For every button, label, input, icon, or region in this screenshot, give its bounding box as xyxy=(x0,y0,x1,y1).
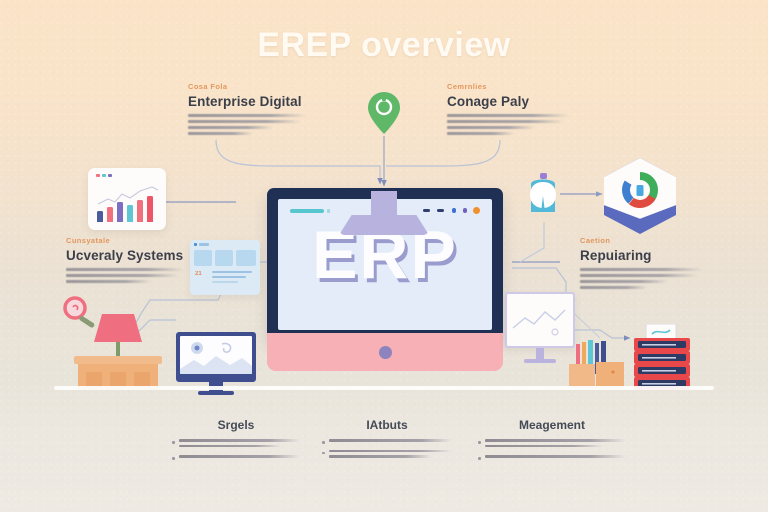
floor-line xyxy=(54,386,714,390)
list-item xyxy=(322,439,452,445)
dashboard-card: 21 xyxy=(190,240,260,295)
callout-eyebrow: Caetion xyxy=(580,236,702,245)
infographic-canvas: EREP overview ERP Cosa Fola Enterprise D… xyxy=(0,0,768,512)
callout-body xyxy=(580,268,702,289)
card-bars xyxy=(97,196,153,222)
titlebar-dot-3 xyxy=(452,208,457,213)
callout-heading: Conage Paly xyxy=(447,94,569,109)
bottom-section-srgels: Srgels xyxy=(172,418,300,466)
mini-monitor-content xyxy=(180,336,252,374)
callout-eyebrow: Cemrnlies xyxy=(447,82,569,91)
list-item xyxy=(478,439,626,450)
bullet-dot xyxy=(172,441,175,444)
list-item xyxy=(172,439,300,450)
map-pin-glyph xyxy=(363,88,405,138)
list-item xyxy=(478,455,626,461)
dashcard-metric: 21 xyxy=(195,271,202,277)
section-heading: Meagement xyxy=(478,418,626,432)
dashcard-tiles xyxy=(194,250,256,266)
card-header-dots xyxy=(96,174,112,177)
list-item xyxy=(172,455,300,461)
monitor-stand-base xyxy=(339,215,429,235)
titlebar-dot-1 xyxy=(423,209,430,212)
bar-chart-card xyxy=(88,168,166,230)
callout-body xyxy=(66,268,184,283)
list-item xyxy=(322,450,452,461)
mini-monitor xyxy=(176,332,256,382)
callout-enterprise-digital: Cosa Fola Enterprise Digital xyxy=(188,82,306,138)
screen-titlebar-pill xyxy=(290,209,324,213)
book-holder xyxy=(568,330,624,386)
page-title: EREP overview xyxy=(0,26,768,65)
callout-repuiaring: Caetion Repuiaring xyxy=(580,236,702,292)
dashcard-header xyxy=(194,243,209,246)
monitor-power-knob xyxy=(379,346,392,359)
bullet-dot xyxy=(322,452,325,455)
white-monitor-content xyxy=(507,294,573,346)
white-monitor-card xyxy=(505,292,575,348)
bullet-dot xyxy=(478,441,481,444)
mini-monitor-base xyxy=(198,391,234,395)
bottom-section-management: Meagement xyxy=(478,418,626,466)
bullet-dot xyxy=(322,441,325,444)
callout-conage-paly: Cemrnlies Conage Paly xyxy=(447,82,569,138)
dashcard-rows xyxy=(212,271,252,283)
shield-bulb-icon xyxy=(522,172,564,222)
lamp-building-glyph xyxy=(72,300,164,392)
callout-heading: Repuiaring xyxy=(580,248,702,263)
titlebar-dot-4 xyxy=(463,208,468,213)
callout-body xyxy=(447,114,569,135)
section-heading: Srgels xyxy=(172,418,300,432)
bullet-dot xyxy=(172,457,175,460)
titlebar-dot-5 xyxy=(473,207,480,214)
books-glyph xyxy=(568,330,626,388)
bullet-dot xyxy=(478,457,481,460)
callout-heading: Ucveraly Systems xyxy=(66,248,184,263)
bottom-section-adbuts: IAtbuts xyxy=(322,418,452,466)
callout-heading: Enterprise Digital xyxy=(188,94,306,109)
server-stack-glyph xyxy=(634,324,692,390)
hexagon-donut-badge xyxy=(604,158,676,234)
titlebar-dot-2 xyxy=(437,209,444,212)
map-pin-icon xyxy=(363,88,405,138)
callout-body xyxy=(188,114,306,135)
screen-titlebar-tick xyxy=(327,209,330,213)
mini-monitor-screen xyxy=(180,336,252,374)
white-monitor-base xyxy=(524,359,556,363)
callout-eyebrow: Cunsyatale xyxy=(66,236,184,245)
monitor-stand-neck xyxy=(371,191,397,217)
section-heading: IAtbuts xyxy=(322,418,452,432)
lamp-and-building xyxy=(72,300,164,390)
callout-eyebrow: Cosa Fola xyxy=(188,82,306,91)
callout-ucveraly-systems: Cunsyatale Ucveraly Systems xyxy=(66,236,184,286)
donut-chart-icon xyxy=(604,158,676,234)
shield-glyph xyxy=(522,172,564,222)
server-stack xyxy=(634,324,690,388)
